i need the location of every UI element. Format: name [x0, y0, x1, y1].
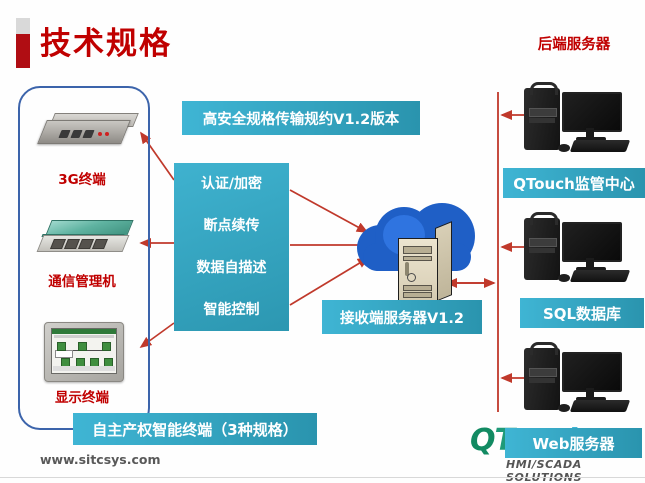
pc-handle — [530, 342, 558, 355]
title-accent-bar — [16, 18, 30, 68]
pc-drive-bay — [529, 118, 555, 123]
pc-drive-bay — [529, 108, 557, 117]
feature-list-box[interactable]: 认证/加密 断点续传 数据自描述 智能控制 — [174, 163, 289, 331]
screen-label-box — [55, 350, 73, 358]
device-label-3g-terminal: 3G终端 — [12, 168, 152, 188]
feature-item-smart-control: 智能控制 — [204, 301, 260, 319]
logo-letter-q: Q — [470, 423, 495, 458]
pc-keyboard — [570, 270, 630, 282]
pc-mouse — [558, 144, 570, 152]
pc-drive-bay — [529, 368, 557, 377]
pc-mouse — [558, 274, 570, 282]
device-display-terminal-image — [44, 322, 122, 380]
pc-image-sql — [524, 212, 632, 288]
pc-drive-bay — [529, 248, 555, 253]
protocol-box[interactable]: 高安全规格传输规约V1.2版本 — [182, 101, 420, 135]
screen-node — [102, 342, 111, 351]
title-accent-bar-top — [16, 18, 30, 34]
device-led — [105, 132, 109, 136]
pc-handle — [530, 82, 558, 95]
feature-item-auth: 认证/加密 — [201, 175, 262, 193]
site-url[interactable]: www.sitcsys.com — [40, 452, 161, 467]
device-comm-manager-image — [34, 218, 132, 260]
backend-servers-heading: 后端服务器 — [505, 33, 643, 54]
screen-node — [78, 342, 87, 351]
server-power-icon — [407, 273, 416, 282]
pc-keyboard — [570, 400, 630, 412]
terminal-group-caption-box[interactable]: 自主产权智能终端（3种规格） — [73, 413, 317, 445]
server-drive-bay — [403, 246, 432, 254]
slide-canvas: 技术规格 — [0, 0, 645, 483]
screen-footer — [53, 366, 115, 371]
device-3g-terminal-image — [36, 110, 130, 152]
screen-node — [57, 342, 66, 351]
receiver-server-box[interactable]: 接收端服务器V1.2 — [322, 300, 482, 334]
page-title: 技术规格 — [40, 22, 172, 66]
pc-monitor — [562, 92, 622, 132]
pc-drive-bay — [529, 238, 557, 247]
server-drive-bay — [403, 292, 432, 298]
pc-monitor — [562, 352, 622, 392]
device-led — [98, 132, 102, 136]
pc-image-web — [524, 342, 632, 418]
title-accent-bar-bottom — [16, 34, 30, 68]
footer-divider — [0, 477, 645, 478]
pc-drive-bay — [529, 378, 555, 383]
device-label-display-terminal: 显示终端 — [12, 386, 152, 406]
screen-toolbar — [54, 335, 114, 338]
pc-keyboard — [570, 140, 630, 152]
qtouch-center-box[interactable]: QTouch监管中心 — [503, 168, 645, 198]
screen-header — [52, 329, 116, 334]
pc-handle — [530, 212, 558, 225]
web-server-box[interactable]: Web服务器 — [505, 428, 642, 458]
sql-database-box[interactable]: SQL数据库 — [520, 298, 644, 328]
pc-image-qtouch — [524, 82, 632, 158]
pc-mouse — [558, 404, 570, 412]
device-label-comm-manager: 通信管理机 — [12, 270, 152, 290]
server-drive-bay — [403, 256, 432, 261]
feature-item-self-describe: 数据自描述 — [197, 259, 267, 277]
qtouch-logo-tagline: HMI/SCADA SOLUTIONS — [506, 458, 645, 483]
pc-monitor — [562, 222, 622, 262]
server-drive-bay — [403, 285, 432, 291]
device-screen — [51, 328, 117, 374]
feature-item-resume: 断点续传 — [204, 217, 260, 235]
